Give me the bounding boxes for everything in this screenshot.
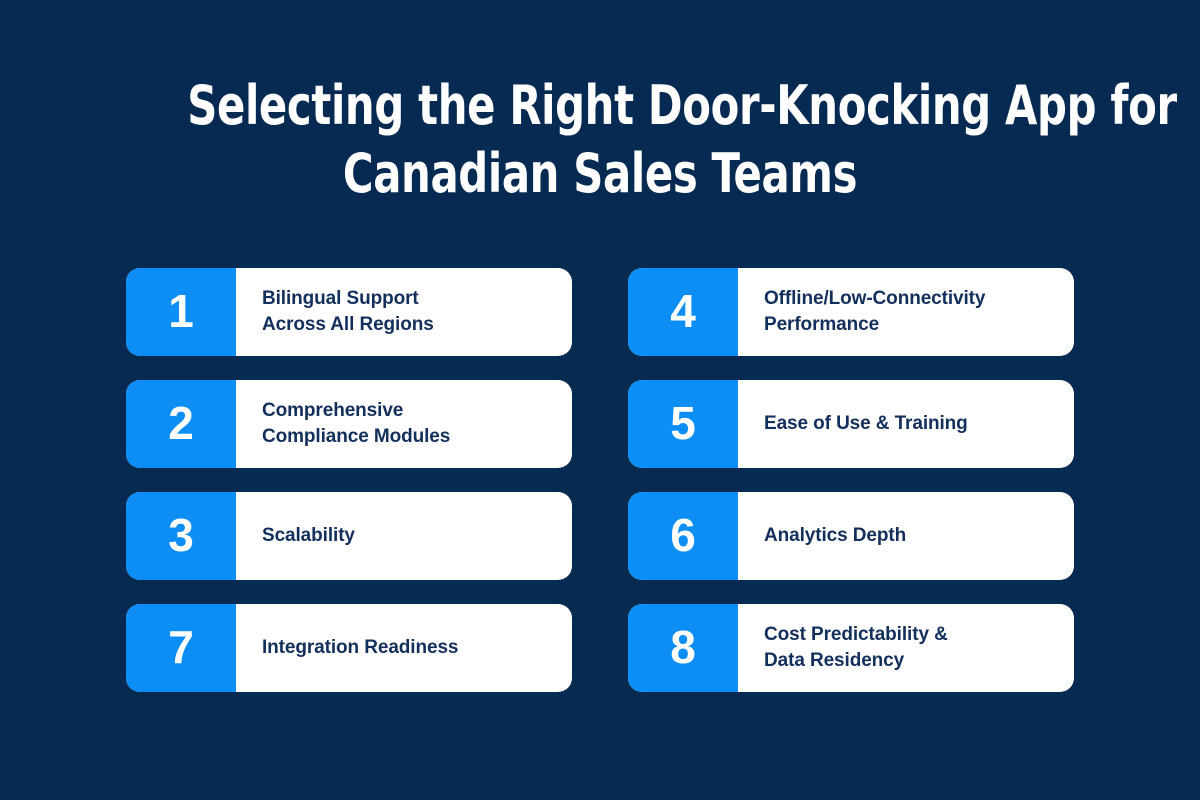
criteria-card: 3 Scalability (126, 492, 572, 580)
card-number-badge: 8 (628, 604, 738, 692)
card-number-badge: 4 (628, 268, 738, 356)
card-body: Ease of Use & Training (738, 380, 1074, 468)
card-label: Scalability (262, 523, 355, 549)
criteria-card: 2 Comprehensive Compliance Modules (126, 380, 572, 468)
criteria-card: 4 Offline/Low-Connectivity Performance (628, 268, 1074, 356)
page-title-line-1: Selecting the Right Door-Knocking App fo… (187, 72, 1013, 140)
card-label: Offline/Low-Connectivity Performance (764, 286, 985, 338)
card-label: Comprehensive Compliance Modules (262, 398, 450, 450)
infographic-poster: Selecting the Right Door-Knocking App fo… (0, 0, 1200, 800)
card-number-badge: 1 (126, 268, 236, 356)
page-title-line-2: Canadian Sales Teams (187, 140, 1013, 208)
page-title: Selecting the Right Door-Knocking App fo… (0, 72, 1200, 208)
card-label: Ease of Use & Training (764, 411, 968, 437)
card-body: Scalability (236, 492, 572, 580)
card-body: Bilingual Support Across All Regions (236, 268, 572, 356)
card-label: Bilingual Support Across All Regions (262, 286, 434, 338)
card-label: Cost Predictability & Data Residency (764, 622, 948, 674)
card-number-badge: 7 (126, 604, 236, 692)
criteria-card-grid: 1 Bilingual Support Across All Regions 4… (126, 268, 1074, 692)
card-label: Integration Readiness (262, 635, 458, 661)
criteria-card: 6 Analytics Depth (628, 492, 1074, 580)
criteria-card: 5 Ease of Use & Training (628, 380, 1074, 468)
criteria-card: 1 Bilingual Support Across All Regions (126, 268, 572, 356)
card-body: Cost Predictability & Data Residency (738, 604, 1074, 692)
card-number-badge: 2 (126, 380, 236, 468)
card-number-badge: 5 (628, 380, 738, 468)
card-body: Analytics Depth (738, 492, 1074, 580)
card-number-badge: 3 (126, 492, 236, 580)
criteria-card: 7 Integration Readiness (126, 604, 572, 692)
card-body: Offline/Low-Connectivity Performance (738, 268, 1074, 356)
card-number-badge: 6 (628, 492, 738, 580)
criteria-card: 8 Cost Predictability & Data Residency (628, 604, 1074, 692)
card-label: Analytics Depth (764, 523, 906, 549)
card-body: Comprehensive Compliance Modules (236, 380, 572, 468)
card-body: Integration Readiness (236, 604, 572, 692)
